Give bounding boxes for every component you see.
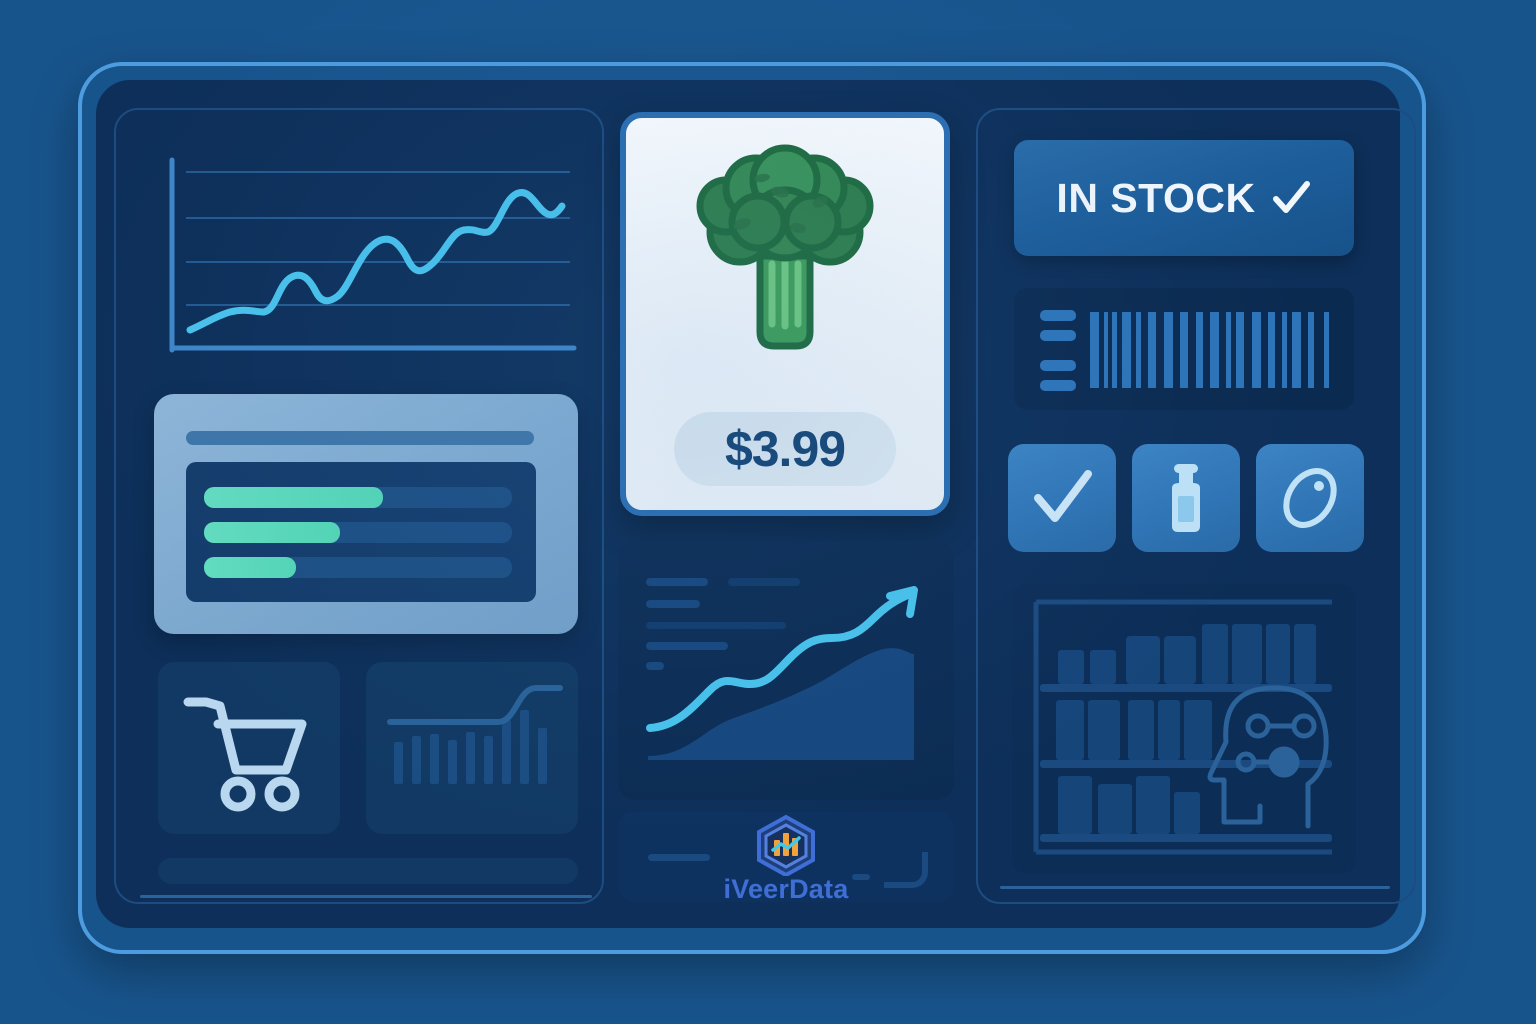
progress-bars-container: [186, 462, 536, 602]
chart-axes: [172, 160, 574, 350]
ai-head-network-icon: [1210, 688, 1326, 826]
product-price: $3.99: [725, 424, 845, 474]
progress-card-title-bar: [186, 431, 534, 445]
barcode-label-lines: [1040, 310, 1076, 391]
barcode-icon: [1090, 312, 1329, 388]
middle-growth-chart: [618, 542, 954, 800]
progress-bar-fill-2: [204, 522, 340, 543]
shelf-products-row-1: [1058, 624, 1316, 684]
price-badge: $3.99: [674, 412, 896, 486]
broccoli-emoji: [680, 144, 890, 372]
left-footer-bar: [158, 858, 578, 884]
shelf-products-row-2: [1056, 700, 1212, 760]
right-divider: [1000, 886, 1390, 889]
check-icon: [1270, 177, 1312, 219]
brand-decor-line-left: [648, 854, 710, 861]
egg-tile[interactable]: [1256, 444, 1364, 552]
progress-bar-fill-1: [204, 487, 383, 508]
left-divider: [140, 895, 592, 898]
bar-chart-tile[interactable]: [366, 662, 578, 834]
brand-watermark: iVeerData: [618, 812, 954, 902]
left-trend-chart: [150, 140, 584, 376]
egg-icon: [1256, 444, 1364, 552]
bar-chart-overlay-line: [390, 688, 560, 722]
status-badge: IN STOCK: [1014, 140, 1354, 256]
chart-placeholder-lines: [646, 578, 800, 670]
bottle-icon: [1132, 444, 1240, 552]
shopping-cart-tile[interactable]: [158, 662, 340, 834]
progress-bar-track-2: [204, 522, 512, 543]
ivedata-logo-icon: [752, 814, 820, 876]
store-shelf-panel: [1012, 584, 1356, 874]
progress-bar-fill-3: [204, 557, 296, 578]
barcode-panel: [1014, 288, 1354, 410]
bottle-tile[interactable]: [1132, 444, 1240, 552]
status-badge-label: IN STOCK: [1056, 175, 1255, 222]
verified-tile[interactable]: [1008, 444, 1116, 552]
bar-chart-trend-icon: [366, 662, 578, 834]
canvas-background: $3.99: [0, 0, 1536, 1024]
progress-card: [154, 394, 578, 634]
shelf-products-row-3: [1058, 776, 1200, 834]
brand-name: iVeerData: [618, 874, 954, 905]
check-icon: [1008, 444, 1116, 552]
shopping-cart-icon: [158, 662, 340, 834]
progress-bar-track-3: [204, 557, 512, 578]
product-card[interactable]: $3.99: [620, 112, 950, 516]
progress-bar-track-1: [204, 487, 512, 508]
